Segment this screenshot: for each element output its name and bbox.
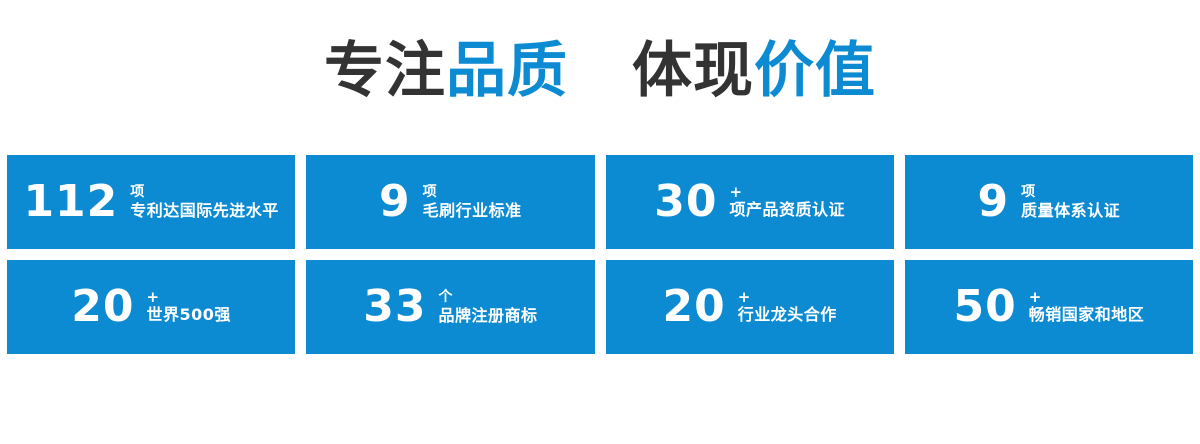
stat-content: 20 + 行业龙头合作: [663, 284, 837, 330]
stat-description: 行业龙头合作: [738, 305, 837, 325]
stat-card[interactable]: 50 + 畅销国家和地区: [905, 260, 1193, 354]
stat-description: 畅销国家和地区: [1029, 305, 1145, 325]
stat-label-group: 项 质量体系认证: [1021, 184, 1120, 221]
page-title: 专注品质体现价值: [0, 34, 1200, 105]
stat-label-group: + 畅销国家和地区: [1029, 289, 1145, 325]
stat-content: 112 项 专利达国际先进水平: [23, 179, 278, 225]
stat-content: 9 项 质量体系认证: [978, 179, 1121, 225]
stat-card[interactable]: 33 个 品牌注册商标: [306, 260, 594, 354]
stat-card[interactable]: 112 项 专利达国际先进水平: [7, 155, 295, 249]
stat-card[interactable]: 20 + 行业龙头合作: [606, 260, 894, 354]
stat-content: 9 项 毛刷行业标准: [379, 179, 522, 225]
stat-label-group: 个 品牌注册商标: [438, 289, 537, 326]
stat-label-group: 项 专利达国际先进水平: [130, 184, 279, 221]
stat-unit: +: [147, 289, 231, 305]
stat-description: 品牌注册商标: [438, 306, 537, 326]
stat-unit: 项: [423, 184, 522, 201]
stats-grid: 112 项 专利达国际先进水平 9 项 毛刷行业标准 30 +: [7, 155, 1193, 354]
stat-number: 112: [23, 179, 118, 225]
stat-number: 30: [654, 179, 717, 225]
stat-label-group: 项 毛刷行业标准: [423, 184, 522, 221]
stat-content: 30 + 项产品资质认证: [654, 179, 845, 225]
stat-description: 世界500强: [147, 305, 231, 325]
stat-number: 9: [978, 179, 1010, 225]
stat-number: 20: [71, 284, 134, 330]
stat-card[interactable]: 30 + 项产品资质认证: [606, 155, 894, 249]
stat-unit: 项: [1021, 184, 1120, 201]
stat-description: 质量体系认证: [1021, 201, 1120, 221]
stat-description: 专利达国际先进水平: [130, 201, 279, 221]
stat-unit: +: [729, 184, 845, 200]
stat-card[interactable]: 9 项 质量体系认证: [905, 155, 1193, 249]
stat-number: 50: [954, 284, 1017, 330]
stat-content: 33 个 品牌注册商标: [363, 284, 537, 330]
headline-part2-blue: 价值: [754, 37, 876, 105]
stat-number: 20: [663, 284, 726, 330]
stat-label-group: + 世界500强: [147, 289, 231, 325]
stat-content: 50 + 畅销国家和地区: [954, 284, 1145, 330]
stat-card[interactable]: 9 项 毛刷行业标准: [306, 155, 594, 249]
headline-part2-dark: 体现: [632, 37, 754, 105]
stat-unit: 项: [130, 184, 279, 201]
stat-unit: 个: [438, 289, 537, 306]
stat-content: 20 + 世界500强: [71, 284, 231, 330]
stat-number: 9: [379, 179, 411, 225]
stat-unit: +: [738, 289, 837, 305]
stat-number: 33: [363, 284, 426, 330]
stat-label-group: + 项产品资质认证: [729, 184, 845, 220]
promo-banner: 专注品质体现价值 112 项 专利达国际先进水平 9 项 毛刷行业标准: [0, 0, 1200, 444]
stat-description: 毛刷行业标准: [423, 201, 522, 221]
stat-card[interactable]: 20 + 世界500强: [7, 260, 295, 354]
stat-unit: +: [1029, 289, 1145, 305]
headline-part1-blue: 品质: [446, 37, 568, 105]
headline-part1-dark: 专注: [324, 37, 446, 105]
stat-label-group: + 行业龙头合作: [738, 289, 837, 325]
stat-description: 项产品资质认证: [729, 200, 845, 220]
